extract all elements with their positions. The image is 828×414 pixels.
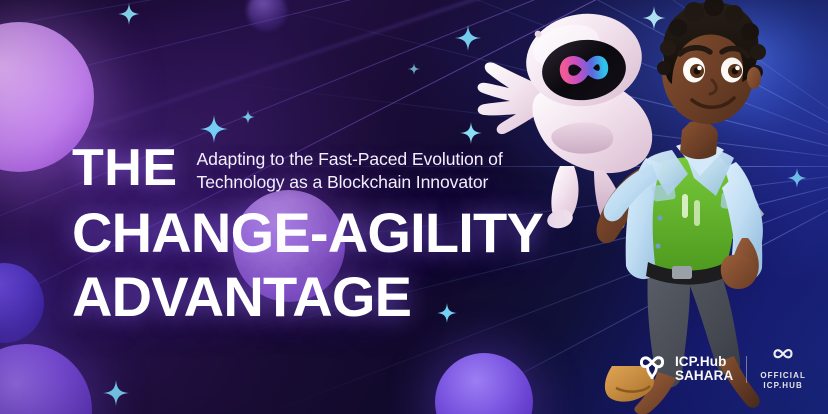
headline-block: THE Adapting to the Fast-Paced Evolution… — [72, 143, 543, 326]
logo-name-line-1: ICP.Hub — [675, 355, 733, 369]
icp-infinity-icon — [637, 354, 667, 385]
sphere-bottom-center — [435, 353, 533, 414]
sparkle-icon — [118, 3, 140, 25]
icp-infinity-icon — [771, 347, 795, 365]
promo-banner: THE Adapting to the Fast-Paced Evolution… — [0, 0, 828, 414]
official-icp-hub-label: OFFICIAL ICP.HUB — [760, 371, 806, 391]
sparkle-icon — [408, 63, 420, 75]
kicker-and-subtitle-row: THE Adapting to the Fast-Paced Evolution… — [72, 143, 543, 194]
logo-name-line-2: SAHARA — [675, 369, 733, 383]
icp-hub-sahara-label: ICP.Hub SAHARA — [675, 355, 733, 384]
badge-line-2: ICP.HUB — [760, 381, 806, 391]
subtitle-text: Adapting to the Fast-Paced Evolution of … — [197, 143, 503, 194]
icp-hub-sahara-logo[interactable]: ICP.Hub SAHARA — [637, 354, 733, 385]
sparkle-icon — [460, 122, 482, 144]
subtitle-line-1: Adapting to the Fast-Paced Evolution of — [197, 148, 503, 171]
badge-line-1: OFFICIAL — [760, 371, 806, 381]
logo-divider — [746, 356, 747, 383]
kicker-text: THE — [72, 143, 178, 194]
official-icp-hub-badge[interactable]: OFFICIAL ICP.HUB — [760, 347, 806, 391]
subtitle-line-2: Technology as a Blockchain Innovator — [197, 171, 503, 194]
sparkle-icon — [200, 115, 228, 143]
sphere-bottom-left — [0, 344, 92, 414]
sparkle-icon — [455, 25, 481, 51]
sparkle-icon — [241, 110, 255, 124]
sphere-low-left — [0, 263, 44, 343]
headline-line-2: ADVANTAGE — [72, 267, 543, 326]
sparkle-icon — [642, 6, 666, 30]
sparkle-icon — [787, 168, 807, 188]
sparkle-icon — [103, 380, 129, 406]
logo-lockup: ICP.Hub SAHARA OFFICIAL ICP.HUB — [637, 347, 806, 391]
sphere-glow-top — [247, 0, 287, 31]
headline-line-1: CHANGE-AGILITY — [72, 203, 543, 262]
